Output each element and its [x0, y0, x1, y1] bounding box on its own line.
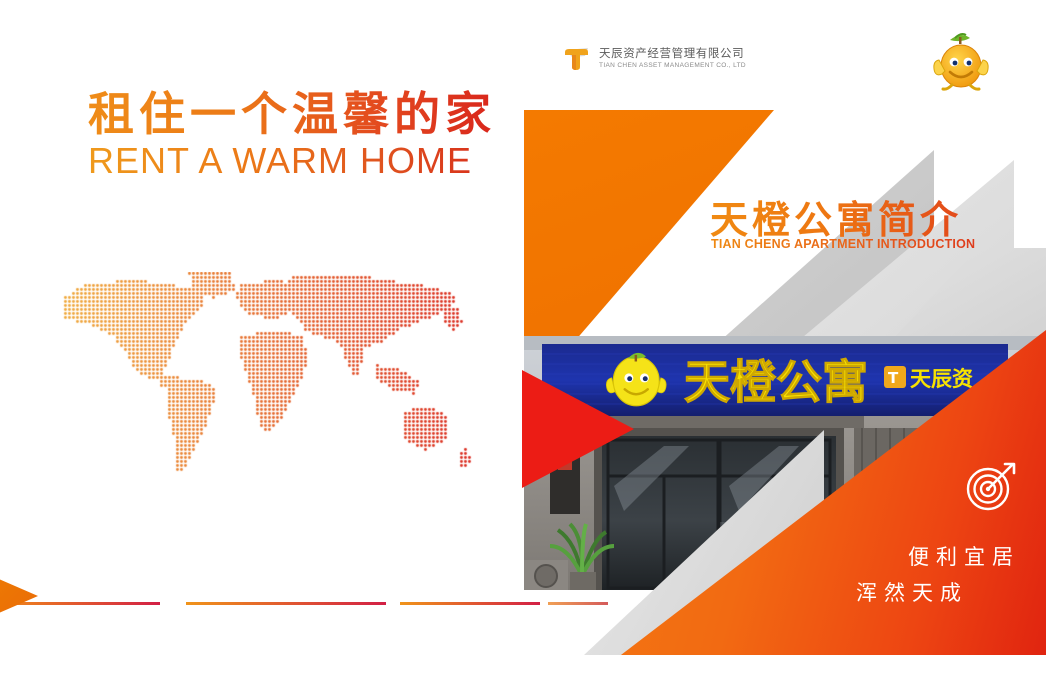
svg-text:T: T: [888, 369, 899, 387]
target-with-arrow-icon: [962, 456, 1022, 514]
left-panel: 租住一个温馨的家 RENT A WARM HOME: [0, 0, 500, 674]
left-title-chinese: 租住一个温馨的家: [88, 88, 496, 141]
right-triangle-arrow-icon: [0, 563, 38, 629]
slogan-line-1: 便利宜居: [780, 540, 1020, 576]
slogan-block: 便利宜居 浑然天成: [780, 540, 1020, 612]
divider-segment: [186, 602, 386, 605]
divider-segment: [0, 602, 160, 605]
left-title-english: RENT A WARM HOME: [88, 140, 472, 182]
orange-mascot-thumbs-up-icon: [928, 32, 994, 94]
slogan-line-2: 浑然天成: [780, 576, 968, 612]
apartment-title-english: TIAN CHENG APARTMENT INTRODUCTION: [711, 237, 975, 251]
svg-text:天橙公寓: 天橙公寓: [684, 355, 868, 409]
divider-segment: [400, 602, 540, 605]
apartment-title-chinese: 天橙公寓简介: [710, 189, 962, 244]
logo-text: 天辰资产经营管理有限公司 TIAN CHEN ASSET MANAGEMENT …: [599, 47, 746, 71]
logo-company-name-chinese: 天辰资产经营管理有限公司: [599, 47, 746, 61]
logo-company-name-english: TIAN CHEN ASSET MANAGEMENT CO., LTD: [599, 61, 746, 71]
company-logo: 天辰资产经营管理有限公司 TIAN CHEN ASSET MANAGEMENT …: [562, 44, 746, 74]
tian-chen-t-logo-icon: [562, 44, 592, 74]
dotted-world-map-icon: [60, 272, 484, 480]
slide-canvas: 租住一个温馨的家 RENT A WARM HOME: [0, 0, 1046, 674]
svg-text:天辰资: 天辰资: [910, 367, 973, 391]
